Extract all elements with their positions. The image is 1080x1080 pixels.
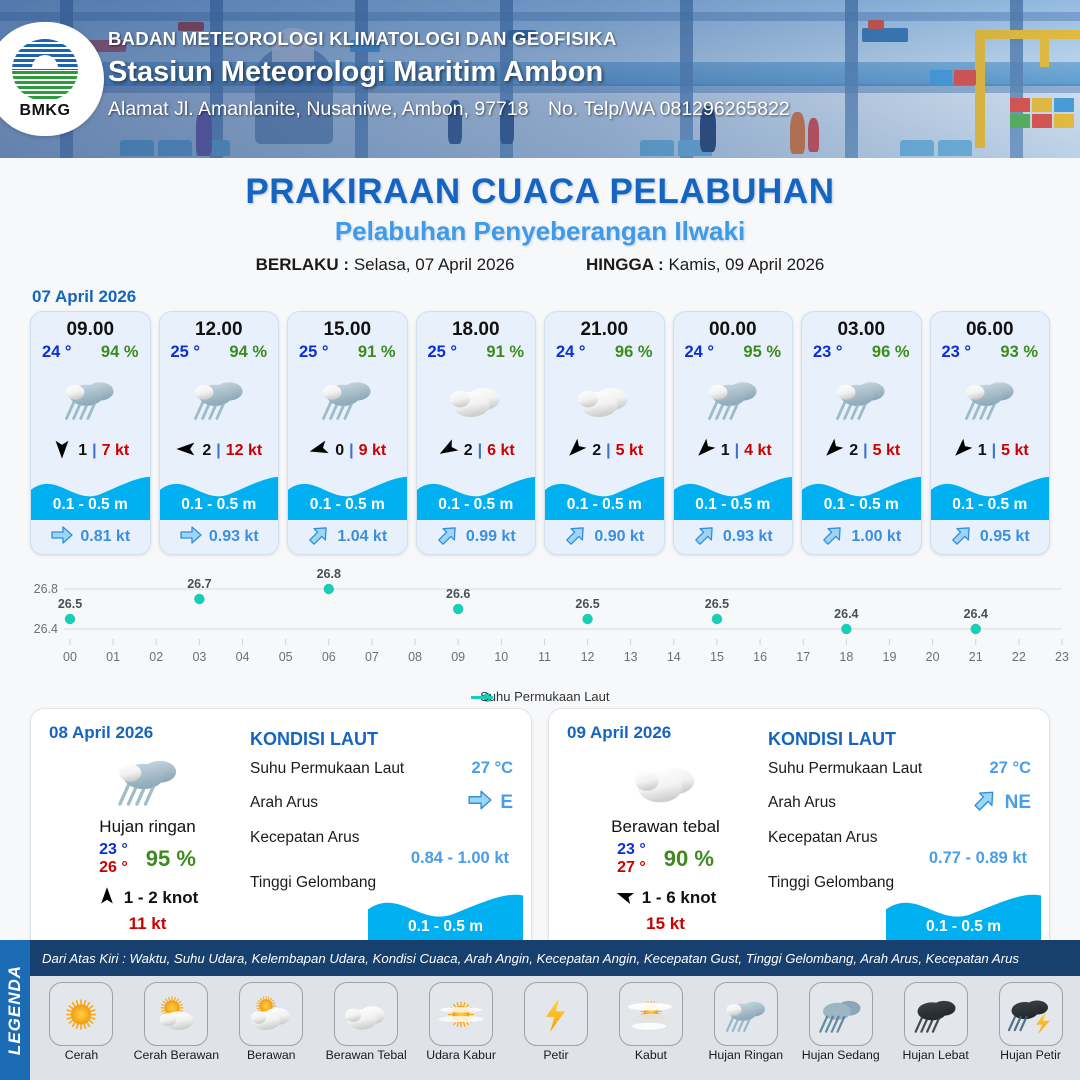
- svg-text:26.4: 26.4: [834, 607, 858, 621]
- card-temperature: 24 °: [42, 343, 72, 362]
- card-gust: 12 kt: [226, 442, 262, 460]
- svg-text:23: 23: [1055, 650, 1069, 664]
- separator: |: [863, 442, 867, 460]
- forecast-card-list: 09.00 24 ° 94 % 1: [0, 311, 1080, 555]
- legend-item: Hujan Ringan: [700, 982, 791, 1062]
- station-name: Stasiun Meteorologi Maritim Ambon: [108, 56, 790, 89]
- sst-value: 27 °C: [472, 759, 513, 778]
- svg-text:26.5: 26.5: [58, 597, 82, 611]
- current-direction-arrow-icon: [50, 523, 74, 552]
- legend-item-label: Hujan Lebat: [890, 1048, 981, 1062]
- card-wind-speed: 2: [849, 442, 858, 460]
- daily-summary-panel: 08 April 2026 Hujan ringan 23 °: [30, 708, 532, 958]
- card-time: 03.00: [802, 312, 921, 342]
- card-humidity: 91 %: [486, 343, 524, 362]
- svg-text:08: 08: [408, 650, 422, 664]
- card-wave-height: 0.1 - 0.5 m: [545, 496, 664, 514]
- current-speed-label: Kecepatan Arus: [250, 829, 359, 847]
- page-title: PRAKIRAAN CUACA PELABUHAN: [0, 172, 1080, 212]
- legend-side-banner: LEGENDA: [0, 940, 30, 1080]
- bmkg-logo-mark: [12, 39, 78, 101]
- current-direction-arrow-icon: [179, 523, 203, 552]
- svg-text:14: 14: [667, 650, 681, 664]
- valid-from-value: Selasa, 07 April 2026: [354, 255, 515, 274]
- svg-text:21: 21: [969, 650, 983, 664]
- station-phone: No. Telp/WA 081296265822: [548, 98, 790, 120]
- card-temperature: 25 °: [171, 343, 201, 362]
- card-current-speed: 0.93 kt: [209, 528, 259, 546]
- card-humidity: 96 %: [615, 343, 653, 362]
- card-wave-height: 0.1 - 0.5 m: [160, 496, 279, 514]
- separator: |: [992, 442, 996, 460]
- forecast-card: 09.00 24 ° 94 % 1: [30, 311, 151, 555]
- card-wave-height: 0.1 - 0.5 m: [931, 496, 1050, 514]
- legend-icon-kabut: [619, 982, 683, 1046]
- current-speed-label: Kecepatan Arus: [768, 829, 877, 847]
- svg-text:18: 18: [839, 650, 853, 664]
- card-gust: 5 kt: [873, 442, 901, 460]
- legend-icon-hujan-sedang: [809, 982, 873, 1046]
- card-time: 06.00: [931, 312, 1050, 342]
- wind-direction-arrow-icon: [308, 438, 330, 465]
- panel-gust: 11 kt: [49, 914, 246, 934]
- svg-text:15: 15: [710, 650, 724, 664]
- svg-text:22: 22: [1012, 650, 1026, 664]
- card-temperature: 25 °: [299, 343, 329, 362]
- legend-icon-hujan-petir: [999, 982, 1063, 1046]
- card-current-speed: 0.95 kt: [980, 528, 1030, 546]
- panel-wind-direction-arrow-icon: [97, 886, 117, 911]
- card-wave-height: 0.1 - 0.5 m: [802, 496, 921, 514]
- card-wind-speed: 1: [978, 442, 987, 460]
- card-wind-speed: 1: [721, 442, 730, 460]
- card-wind-speed: 2: [592, 442, 601, 460]
- forecast-card: 12.00 25 ° 94 % 2: [159, 311, 280, 555]
- panel-wave: 0.1 - 0.5 m: [368, 885, 523, 943]
- card-wind-speed: 1: [78, 442, 87, 460]
- panel-wave-height: 0.1 - 0.5 m: [886, 918, 1041, 936]
- card-humidity: 93 %: [1000, 343, 1038, 362]
- current-direction-label: Arah Arus: [250, 794, 318, 812]
- card-weather-icon: [931, 362, 1050, 434]
- sst-label: Suhu Permukaan Laut: [250, 760, 404, 778]
- legend-item-label: Hujan Ringan: [700, 1048, 791, 1062]
- card-weather-icon: [288, 362, 407, 434]
- legend-item: Hujan Lebat: [890, 982, 981, 1062]
- panel-humidity: 95 %: [146, 846, 196, 872]
- title-block: PRAKIRAAN CUACA PELABUHAN Pelabuhan Peny…: [0, 158, 1080, 275]
- card-gust: 9 kt: [359, 442, 387, 460]
- page-header: BMKG BADAN METEOROLOGI KLIMATOLOGI DAN G…: [0, 0, 1080, 158]
- svg-text:26.8: 26.8: [317, 567, 341, 581]
- card-wave-height: 0.1 - 0.5 m: [288, 496, 407, 514]
- legend-side-label: LEGENDA: [5, 965, 25, 1055]
- svg-text:00: 00: [63, 650, 77, 664]
- sst-chart: 26.426.800010203040506070809101112131415…: [0, 565, 1080, 695]
- panel-temp-max: 27 °: [617, 859, 646, 877]
- svg-text:26.5: 26.5: [705, 597, 729, 611]
- legend-icon-berawan: [239, 982, 303, 1046]
- current-direction-arrow-icon: [307, 523, 331, 552]
- card-weather-icon: [160, 362, 279, 434]
- svg-text:20: 20: [926, 650, 940, 664]
- panel-wind-range: 1 - 6 knot: [642, 888, 717, 908]
- agency-name: BADAN METEOROLOGI KLIMATOLOGI DAN GEOFIS…: [108, 28, 790, 50]
- svg-text:17: 17: [796, 650, 810, 664]
- sea-condition-title: KONDISI LAUT: [250, 729, 513, 750]
- card-current-speed: 1.04 kt: [337, 528, 387, 546]
- separator: |: [349, 442, 353, 460]
- legend-icon-hujan-ringan: [714, 982, 778, 1046]
- card-wave-height: 0.1 - 0.5 m: [31, 496, 150, 514]
- svg-text:01: 01: [106, 650, 120, 664]
- current-direction-arrow-icon: [564, 523, 588, 552]
- card-temperature: 23 °: [813, 343, 843, 362]
- forecast-card: 15.00 25 ° 91 % 0: [287, 311, 408, 555]
- wind-direction-arrow-icon: [951, 438, 973, 465]
- svg-text:26.4: 26.4: [964, 607, 988, 621]
- legend-icon-cerah-berawan: [144, 982, 208, 1046]
- bmkg-logo-text: BMKG: [5, 102, 85, 120]
- forecast-date-label: 07 April 2026: [32, 287, 1080, 307]
- legend-item: Kabut: [605, 982, 696, 1062]
- legend-item-label: Cerah Berawan: [131, 1048, 222, 1062]
- panel-weather-icon: [49, 745, 246, 815]
- current-direction-value: E: [500, 792, 513, 814]
- card-current-speed: 0.99 kt: [466, 528, 516, 546]
- panel-weather-icon: [567, 745, 764, 815]
- forecast-card: 18.00 25 ° 91 % 2: [416, 311, 537, 555]
- separator: |: [478, 442, 482, 460]
- card-time: 15.00: [288, 312, 407, 342]
- sea-condition-title: KONDISI LAUT: [768, 729, 1031, 750]
- svg-text:26.7: 26.7: [187, 577, 211, 591]
- card-humidity: 94 %: [101, 343, 139, 362]
- card-gust: 4 kt: [744, 442, 772, 460]
- card-time: 12.00: [160, 312, 279, 342]
- panel-condition: Hujan ringan: [49, 817, 246, 837]
- legend-item-label: Kabut: [605, 1048, 696, 1062]
- legend-item-label: Berawan: [226, 1048, 317, 1062]
- separator: |: [216, 442, 220, 460]
- wind-direction-arrow-icon: [51, 438, 73, 465]
- current-direction-value: NE: [1005, 792, 1031, 814]
- svg-text:26.8: 26.8: [34, 582, 58, 596]
- valid-from-label: BERLAKU :: [256, 255, 350, 274]
- sst-label: Suhu Permukaan Laut: [768, 760, 922, 778]
- svg-text:10: 10: [494, 650, 508, 664]
- card-time: 00.00: [674, 312, 793, 342]
- forecast-card: 00.00 24 ° 95 % 1: [673, 311, 794, 555]
- station-address: Alamat Jl. Amanlanite, Nusaniwe, Ambon, …: [108, 98, 529, 120]
- legend-item: Petir: [511, 982, 602, 1062]
- legend-icon-list: Cerah Cerah Berawan: [30, 976, 1080, 1080]
- card-temperature: 25 °: [428, 343, 458, 362]
- card-time: 09.00: [31, 312, 150, 342]
- card-current-speed: 1.00 kt: [851, 528, 901, 546]
- legend-item-label: Udara Kabur: [416, 1048, 507, 1062]
- separator: |: [606, 442, 610, 460]
- wave-height-label: Tinggi Gelombang: [768, 874, 894, 892]
- legend-item: Hujan Petir: [985, 982, 1076, 1062]
- legend-item-label: Petir: [511, 1048, 602, 1062]
- card-wave: 0.1 - 0.5 m: [31, 468, 150, 520]
- card-wind-speed: 0: [335, 442, 344, 460]
- card-temperature: 24 °: [556, 343, 586, 362]
- card-gust: 7 kt: [102, 442, 130, 460]
- sst-value: 27 °C: [990, 759, 1031, 778]
- svg-text:26.4: 26.4: [34, 622, 58, 636]
- card-wind-speed: 2: [202, 442, 211, 460]
- wind-direction-arrow-icon: [822, 438, 844, 465]
- svg-text:02: 02: [149, 650, 163, 664]
- legend-item-label: Cerah: [36, 1048, 127, 1062]
- card-wave-height: 0.1 - 0.5 m: [417, 496, 536, 514]
- card-weather-icon: [545, 362, 664, 434]
- card-wind-speed: 2: [464, 442, 473, 460]
- legend-item: Cerah Berawan: [131, 982, 222, 1062]
- svg-text:06: 06: [322, 650, 336, 664]
- card-humidity: 95 %: [743, 343, 781, 362]
- current-speed-value: 0.77 - 0.89 kt: [768, 849, 1031, 868]
- card-current-speed: 0.90 kt: [594, 528, 644, 546]
- legend-item-label: Hujan Petir: [985, 1048, 1076, 1062]
- svg-text:13: 13: [624, 650, 638, 664]
- card-gust: 6 kt: [487, 442, 515, 460]
- wind-direction-arrow-icon: [565, 438, 587, 465]
- wind-direction-arrow-icon: [437, 438, 459, 465]
- wave-height-label: Tinggi Gelombang: [250, 874, 376, 892]
- legend-note-bar: Dari Atas Kiri : Waktu, Suhu Udara, Kele…: [30, 940, 1080, 976]
- legend-icon-berawan-tebal: [334, 982, 398, 1046]
- card-wave: 0.1 - 0.5 m: [674, 468, 793, 520]
- page-subtitle: Pelabuhan Penyeberangan Ilwaki: [0, 216, 1080, 247]
- forecast-card: 06.00 23 ° 93 % 1: [930, 311, 1051, 555]
- card-gust: 5 kt: [616, 442, 644, 460]
- legend-icon-udara-kabur: [429, 982, 493, 1046]
- legend-item-label: Hujan Sedang: [795, 1048, 886, 1062]
- panel-wave-height: 0.1 - 0.5 m: [368, 918, 523, 936]
- card-gust: 5 kt: [1001, 442, 1029, 460]
- panel-wind-direction-arrow-icon: [615, 886, 635, 911]
- legend-item: Berawan: [226, 982, 317, 1062]
- card-weather-icon: [417, 362, 536, 434]
- card-time: 18.00: [417, 312, 536, 342]
- separator: |: [92, 442, 96, 460]
- current-speed-value: 0.84 - 1.00 kt: [250, 849, 513, 868]
- panel-current-direction-arrow-icon: [467, 787, 493, 818]
- separator: |: [735, 442, 739, 460]
- svg-text:03: 03: [192, 650, 206, 664]
- card-wave: 0.1 - 0.5 m: [288, 468, 407, 520]
- svg-text:16: 16: [753, 650, 767, 664]
- legend-item: Berawan Tebal: [321, 982, 412, 1062]
- panel-temp-min: 23 °: [99, 841, 128, 859]
- wind-direction-arrow-icon: [694, 438, 716, 465]
- legend-icon-hujan-lebat: [904, 982, 968, 1046]
- card-temperature: 24 °: [685, 343, 715, 362]
- card-humidity: 96 %: [872, 343, 910, 362]
- card-humidity: 94 %: [229, 343, 267, 362]
- card-wave: 0.1 - 0.5 m: [417, 468, 536, 520]
- card-weather-icon: [31, 362, 150, 434]
- panel-temp-min: 23 °: [617, 841, 646, 859]
- svg-text:07: 07: [365, 650, 379, 664]
- card-wave: 0.1 - 0.5 m: [802, 468, 921, 520]
- current-direction-arrow-icon: [950, 523, 974, 552]
- svg-text:09: 09: [451, 650, 465, 664]
- card-current-speed: 0.81 kt: [80, 528, 130, 546]
- forecast-card: 03.00 23 ° 96 % 2: [801, 311, 922, 555]
- svg-text:19: 19: [883, 650, 897, 664]
- panel-wave: 0.1 - 0.5 m: [886, 885, 1041, 943]
- valid-until-value: Kamis, 09 April 2026: [668, 255, 824, 274]
- svg-text:11: 11: [538, 650, 551, 664]
- legend-note: Dari Atas Kiri : Waktu, Suhu Udara, Kele…: [30, 951, 1019, 966]
- panel-condition: Berawan tebal: [567, 817, 764, 837]
- daily-summary-list: 08 April 2026 Hujan ringan 23 °: [0, 708, 1080, 958]
- current-direction-label: Arah Arus: [768, 794, 836, 812]
- validity-range: BERLAKU : Selasa, 07 April 2026 HINGGA :…: [0, 255, 1080, 275]
- card-weather-icon: [674, 362, 793, 434]
- svg-text:04: 04: [236, 650, 250, 664]
- panel-date: 08 April 2026: [49, 723, 246, 743]
- legend-icon-cerah: [49, 982, 113, 1046]
- legend-icon-petir: [524, 982, 588, 1046]
- svg-text:26.6: 26.6: [446, 587, 470, 601]
- card-weather-icon: [802, 362, 921, 434]
- svg-text:26.5: 26.5: [575, 597, 599, 611]
- card-time: 21.00: [545, 312, 664, 342]
- panel-temp-max: 26 °: [99, 859, 128, 877]
- legend-item: Cerah: [36, 982, 127, 1062]
- card-wave: 0.1 - 0.5 m: [545, 468, 664, 520]
- card-wave-height: 0.1 - 0.5 m: [674, 496, 793, 514]
- panel-gust: 15 kt: [567, 914, 764, 934]
- wind-direction-arrow-icon: [175, 438, 197, 465]
- forecast-card: 21.00 24 ° 96 % 2: [544, 311, 665, 555]
- panel-humidity: 90 %: [664, 846, 714, 872]
- current-direction-arrow-icon: [821, 523, 845, 552]
- card-wave: 0.1 - 0.5 m: [931, 468, 1050, 520]
- card-current-speed: 0.93 kt: [723, 528, 773, 546]
- current-direction-arrow-icon: [693, 523, 717, 552]
- legend-item: Hujan Sedang: [795, 982, 886, 1062]
- valid-until-label: HINGGA :: [586, 255, 664, 274]
- legend-item: Udara Kabur: [416, 982, 507, 1062]
- legend-item-label: Berawan Tebal: [321, 1048, 412, 1062]
- card-humidity: 91 %: [358, 343, 396, 362]
- panel-wind-range: 1 - 2 knot: [124, 888, 199, 908]
- panel-current-direction-arrow-icon: [972, 787, 998, 818]
- legend-section: LEGENDA Dari Atas Kiri : Waktu, Suhu Uda…: [0, 940, 1080, 1080]
- card-wave: 0.1 - 0.5 m: [160, 468, 279, 520]
- svg-text:05: 05: [279, 650, 293, 664]
- current-direction-arrow-icon: [436, 523, 460, 552]
- card-temperature: 23 °: [942, 343, 972, 362]
- svg-text:12: 12: [581, 650, 595, 664]
- daily-summary-panel: 09 April 2026 Berawan tebal 23 °: [548, 708, 1050, 958]
- panel-date: 09 April 2026: [567, 723, 764, 743]
